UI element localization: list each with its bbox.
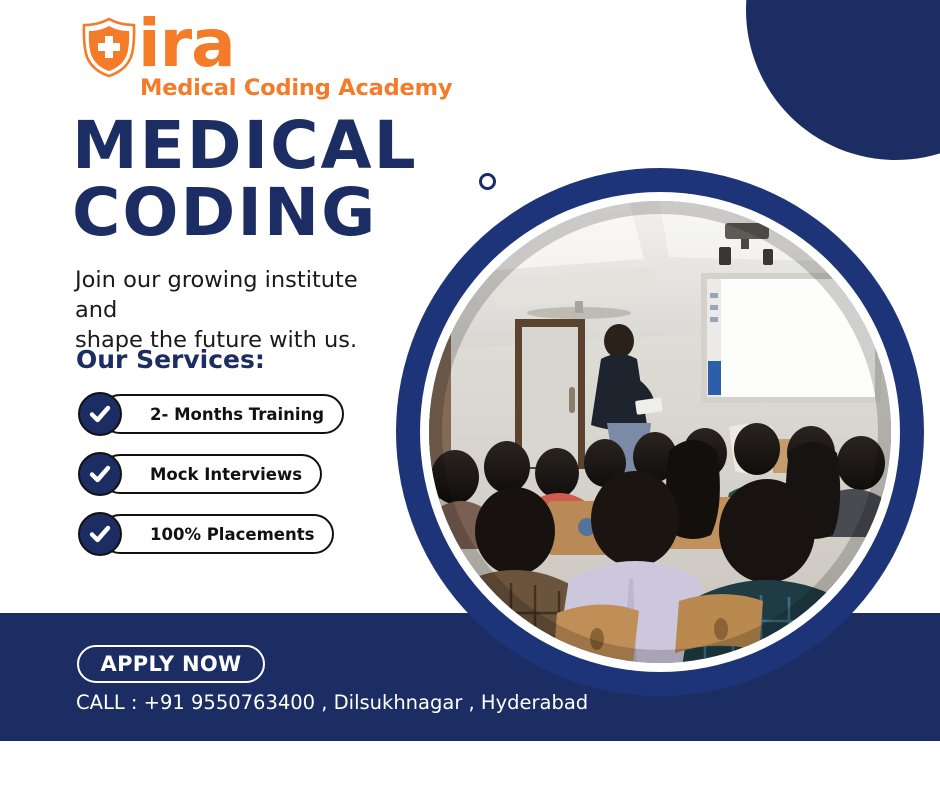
check-icon: [78, 512, 122, 556]
intro-tagline: Join our growing institute and shape the…: [75, 265, 405, 355]
decorative-circle-top-right: [746, 0, 940, 160]
service-label: Mock Interviews: [150, 465, 302, 484]
advertisement-poster: ira Medical Coding Academy MEDICAL CODIN…: [0, 0, 940, 788]
brand-tagline: Medical Coding Academy: [140, 75, 452, 101]
headline-ring-accent: [479, 173, 496, 190]
close-icon[interactable]: ×: [848, 724, 868, 744]
brand-logo: ira Medical Coding Academy: [78, 8, 438, 103]
service-label: 2- Months Training: [150, 405, 324, 424]
apply-now-label: APPLY NOW: [101, 652, 242, 676]
contact-line: CALL : +91 9550763400 , Dilsukhnagar , H…: [76, 691, 588, 714]
service-label: 100% Placements: [150, 525, 314, 544]
service-pill-body[interactable]: 100% Placements: [100, 514, 334, 554]
brand-name: ira: [138, 8, 235, 80]
apply-now-button[interactable]: APPLY NOW: [77, 645, 265, 683]
check-glyph: [87, 521, 113, 547]
page-title: MEDICAL CODING: [72, 112, 418, 246]
check-glyph: [87, 401, 113, 427]
check-glyph: [87, 461, 113, 487]
service-pill-body[interactable]: Mock Interviews: [100, 454, 322, 494]
check-icon: [78, 452, 122, 496]
classroom-photo: [429, 201, 891, 663]
medical-shield-cross-icon: [78, 16, 140, 78]
check-icon: [78, 392, 122, 436]
services-heading: Our Services:: [76, 345, 265, 374]
shield-cross-svg: [78, 16, 140, 78]
service-pill-body[interactable]: 2- Months Training: [100, 394, 344, 434]
classroom-photo-illustration: [429, 201, 891, 663]
